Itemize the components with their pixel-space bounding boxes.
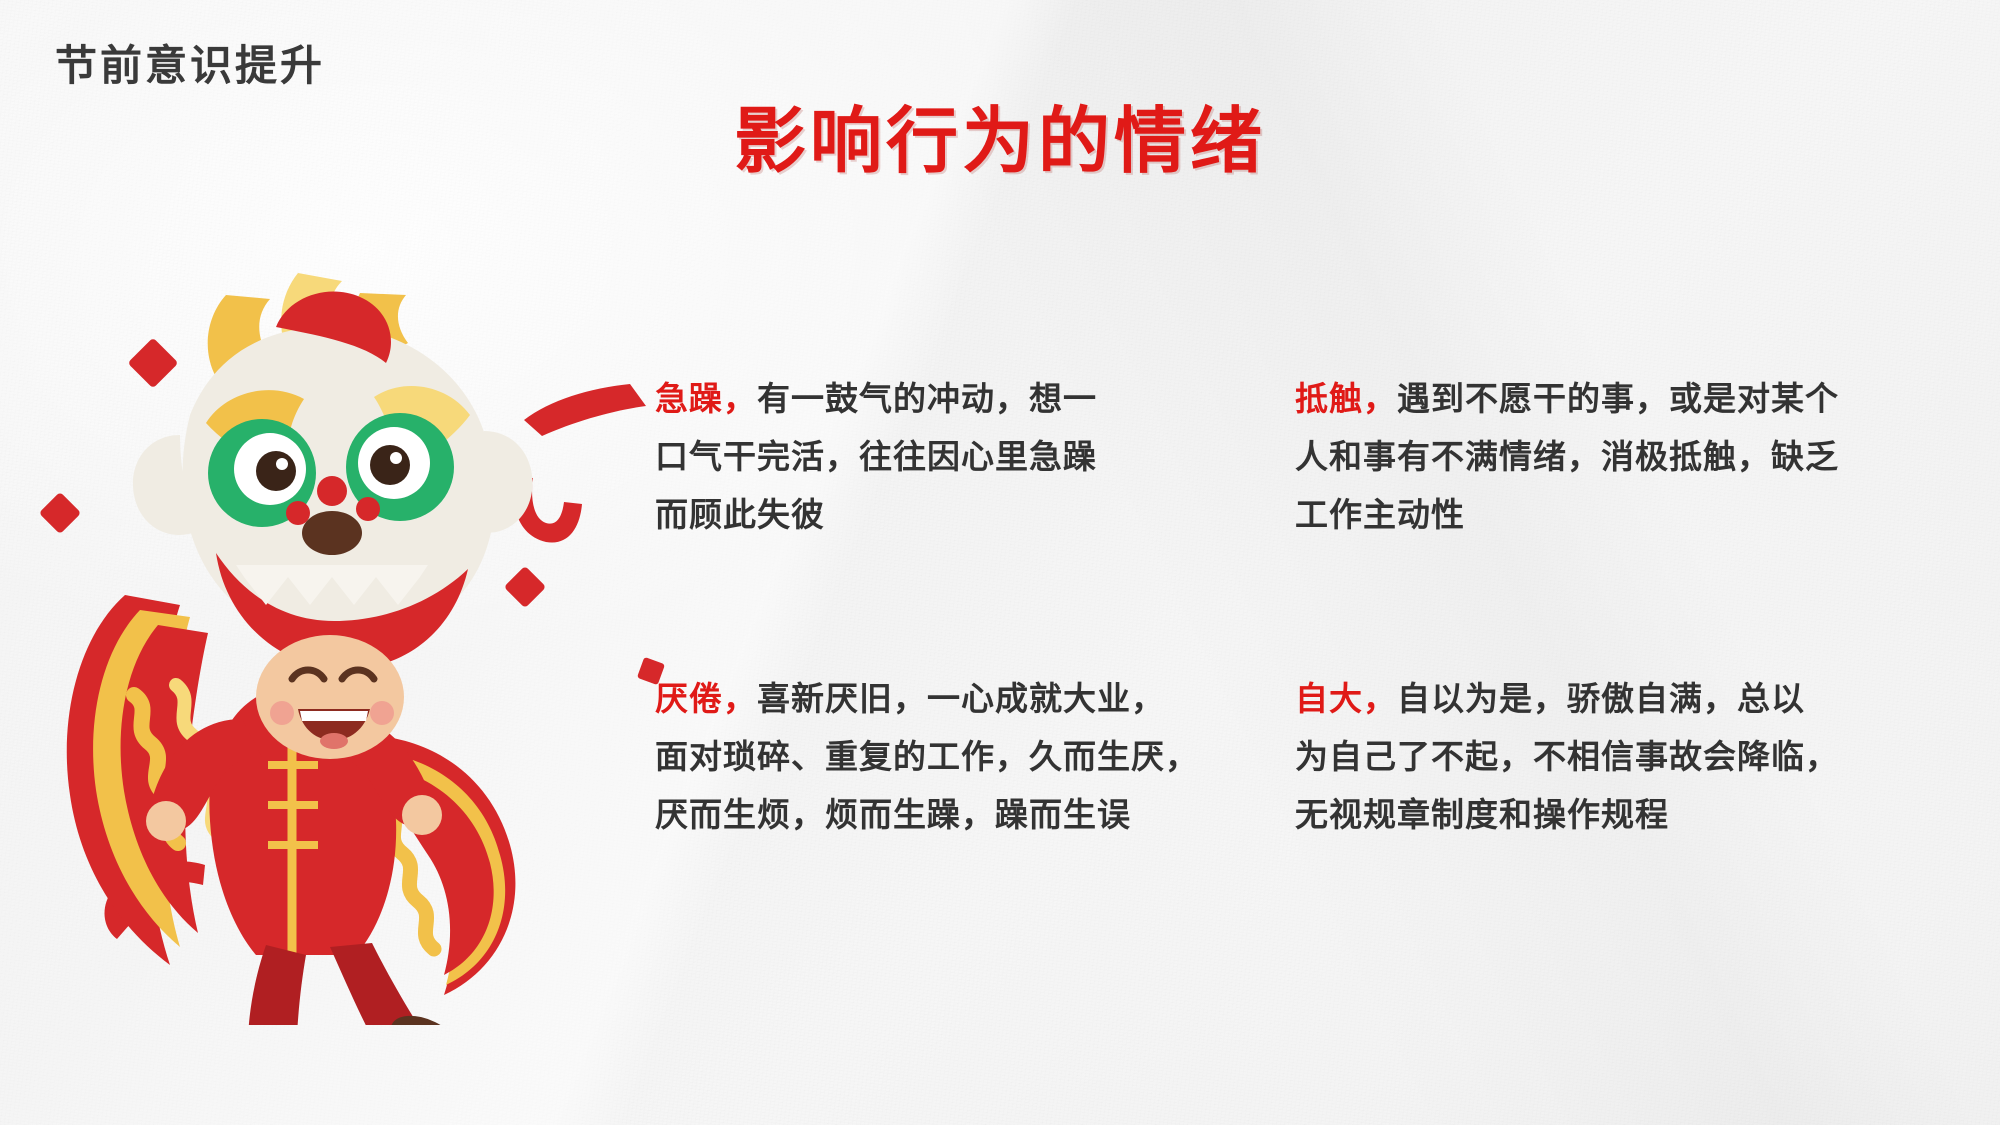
emotion-keyword: 抵触 (1295, 380, 1363, 417)
emotion-line: 为自己了不起，不相信事故会降临， (1295, 728, 1955, 786)
emotion-line: 口气干完活，往往因心里急躁 (655, 428, 1295, 486)
emotion-keyword: 厌倦 (655, 680, 723, 717)
emotion-line: 无视规章制度和操作规程 (1295, 786, 1955, 844)
emotion-line: 人和事有不满情绪，消极抵触，缺乏 (1295, 428, 1955, 486)
emotion-keyword-punct: ， (723, 380, 757, 417)
emotion-line-text: 有一鼓气的冲动，想一 (757, 380, 1097, 417)
lion-dance-illustration (30, 265, 690, 1025)
emotion-line: 面对琐碎、重复的工作，久而生厌， (655, 728, 1295, 786)
emotion-line-text: 喜新厌旧，一心成就大业， (757, 680, 1165, 717)
emotion-blocks-grid: 急躁，有一鼓气的冲动，想一 口气干完活，往往因心里急躁 而顾此失彼 抵触，遇到不… (655, 370, 1955, 990)
lion-dancer-face (256, 635, 404, 759)
emotion-line: 而顾此失彼 (655, 486, 1295, 544)
emotion-line: 厌倦，喜新厌旧，一心成就大业， (655, 670, 1295, 728)
emotion-line: 抵触，遇到不愿干的事，或是对某个 (1295, 370, 1955, 428)
emotion-keyword-punct: ， (1363, 380, 1397, 417)
emotion-block-zida: 自大，自以为是，骄傲自满，总以 为自己了不起，不相信事故会降临， 无视规章制度和… (1295, 670, 1955, 970)
emotion-keyword-punct: ， (1363, 680, 1397, 717)
emotion-keyword: 急躁 (655, 380, 723, 417)
emotion-line-text: 自以为是，骄傲自满，总以 (1397, 680, 1805, 717)
slide-root: 节前意识提升 影响行为的情绪 急躁，有一鼓气的冲动，想一 口气干完活，往往因心里… (0, 0, 2000, 1125)
emotion-line: 自大，自以为是，骄傲自满，总以 (1295, 670, 1955, 728)
emotion-keyword: 自大 (1295, 680, 1363, 717)
page-title: 影响行为的情绪 (0, 82, 2000, 187)
emotion-line: 工作主动性 (1295, 486, 1955, 544)
emotion-block-jizao: 急躁，有一鼓气的冲动，想一 口气干完活，往往因心里急躁 而顾此失彼 (655, 370, 1295, 670)
emotion-line: 厌而生烦，烦而生躁，躁而生误 (655, 786, 1295, 844)
emotion-line: 急躁，有一鼓气的冲动，想一 (655, 370, 1295, 428)
emotion-block-yanjuan: 厌倦，喜新厌旧，一心成就大业， 面对琐碎、重复的工作，久而生厌， 厌而生烦，烦而… (655, 670, 1295, 970)
lion-head-mask (133, 273, 533, 669)
emotion-line-text: 遇到不愿干的事，或是对某个 (1397, 380, 1839, 417)
emotion-block-dichu: 抵触，遇到不愿干的事，或是对某个 人和事有不满情绪，消极抵触，缺乏 工作主动性 (1295, 370, 1955, 670)
emotion-keyword-punct: ， (723, 680, 757, 717)
